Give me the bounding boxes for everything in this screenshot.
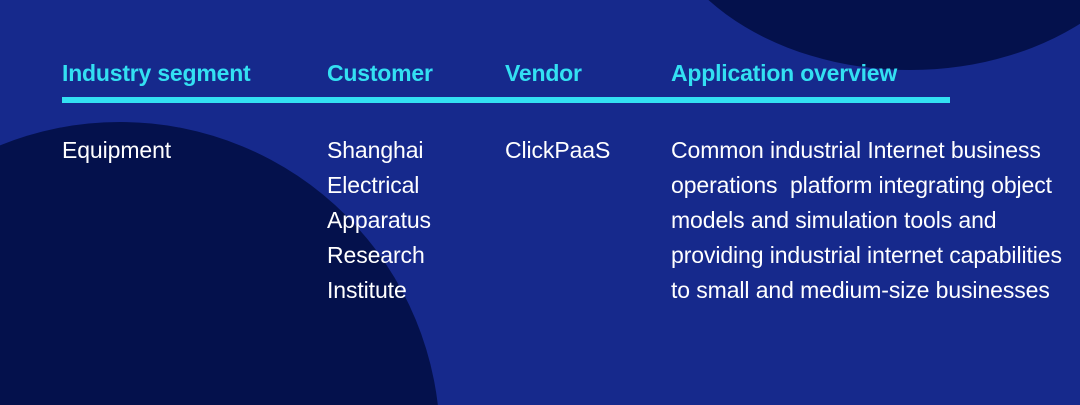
header-underline-rule	[62, 97, 950, 103]
cell-vendor: ClickPaaS	[505, 133, 665, 168]
slide-canvas: Industry segment Customer Vendor Applica…	[0, 0, 1080, 405]
column-header-industry-segment: Industry segment	[62, 58, 251, 88]
column-header-customer: Customer	[327, 58, 433, 88]
column-header-application-overview: Application overview	[671, 58, 897, 88]
cell-customer: Shanghai Electrical Apparatus Research I…	[327, 133, 497, 308]
column-header-vendor: Vendor	[505, 58, 582, 88]
cell-industry-segment: Equipment	[62, 133, 312, 168]
cell-application-overview: Common industrial Internet business oper…	[671, 133, 1071, 308]
table-header-row: Industry segment Customer Vendor Applica…	[62, 58, 950, 92]
comparison-table: Industry segment Customer Vendor Applica…	[0, 0, 1080, 405]
